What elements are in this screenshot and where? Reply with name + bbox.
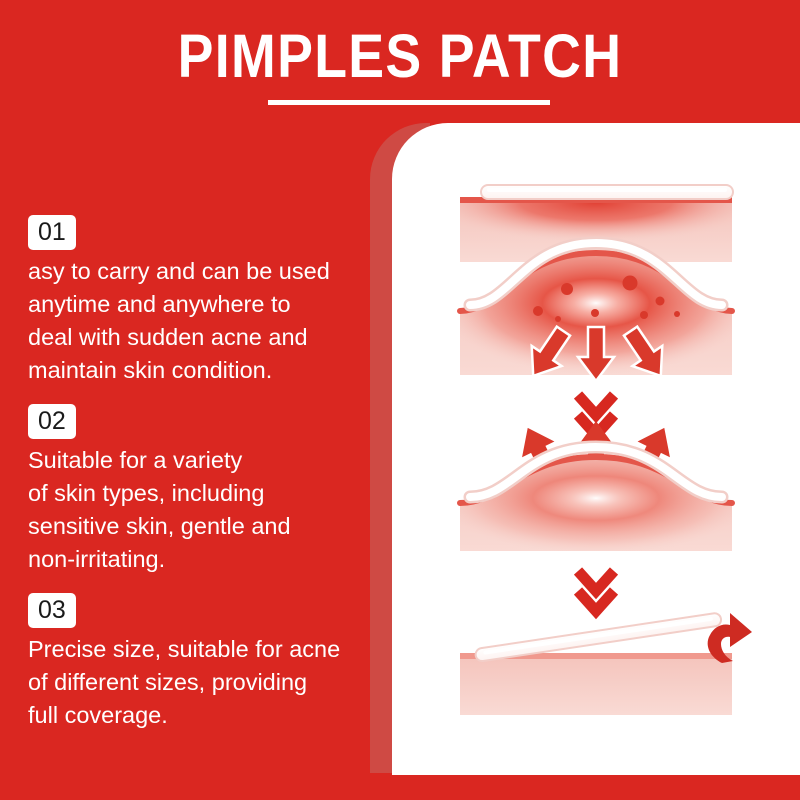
title-underline (268, 100, 550, 105)
pimple-patch-process-diagram (392, 123, 800, 775)
feature-list: 01 asy to carry and can be used anytime … (28, 215, 373, 746)
stage-2-patch-applied-absorbing (460, 251, 732, 386)
feature-number-badge-03: 03 (28, 593, 76, 628)
feature-number-badge-02: 02 (28, 404, 76, 439)
feature-text-02: Suitable for a variety of skin types, in… (28, 444, 373, 576)
stage-3-pus-drawn-upward (460, 420, 732, 551)
feature-item-01: 01 asy to carry and can be used anytime … (28, 215, 373, 387)
feature-item-03: 03 Precise size, suitable for acne of di… (28, 593, 373, 732)
patch-stage-1 (481, 185, 733, 199)
feature-text-03: Precise size, suitable for acne of diffe… (28, 633, 373, 732)
feature-item-02: 02 Suitable for a variety of skin types,… (28, 404, 373, 576)
poster-root: PIMPLES PATCH 01 asy to carry and can be… (0, 0, 800, 800)
feature-number-badge-01: 01 (28, 215, 76, 250)
page-title: PIMPLES PATCH (48, 23, 752, 89)
stage-4-patch-removed (460, 612, 752, 715)
illustration-panel (392, 123, 800, 775)
skin-layer-stage-3 (460, 455, 732, 551)
feature-text-01: asy to carry and can be used anytime and… (28, 255, 373, 387)
skin-layer-stage-4 (460, 653, 732, 715)
poster-header: PIMPLES PATCH (0, 0, 800, 130)
chevron-down-icon-3 (578, 571, 614, 611)
